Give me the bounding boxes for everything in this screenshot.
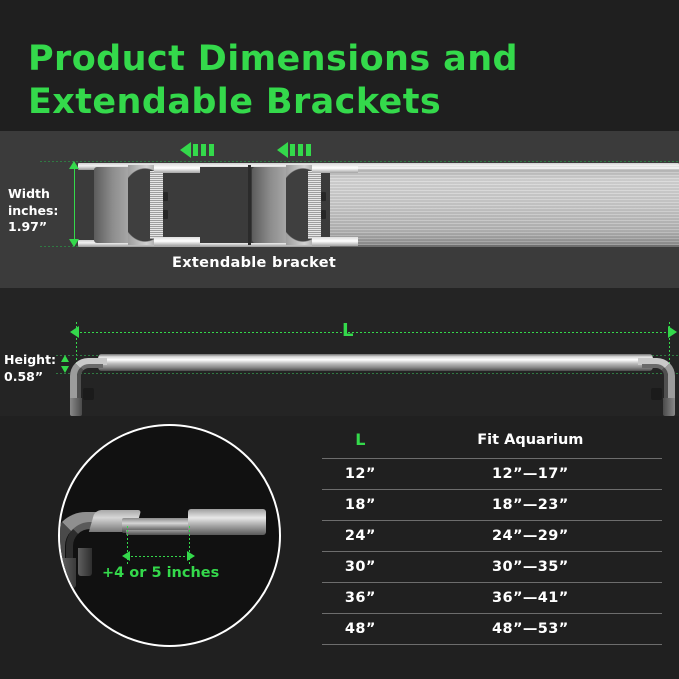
cell-fit: 30”—35” (399, 552, 662, 583)
product-top-view-illustration (78, 163, 679, 247)
cell-length: 30” (322, 552, 399, 583)
table-header-row: L Fit Aquarium (322, 424, 662, 459)
page-title-line-1: Product Dimensions and (28, 38, 648, 81)
length-arrow-right-icon (668, 326, 677, 338)
table-row: 18” 18”—23” (322, 490, 662, 521)
table-row: 24” 24”—29” (322, 521, 662, 552)
bracket-clip (321, 210, 326, 219)
bracket-arm-bottom (154, 237, 200, 246)
leg-pad (83, 388, 94, 400)
cell-length: 48” (322, 614, 399, 645)
cell-length: 18” (322, 490, 399, 521)
extension-range-label: +4 or 5 inches (102, 565, 219, 581)
magnified-arrow-left-icon (122, 551, 130, 561)
width-arrow-up-icon (69, 161, 79, 169)
bracket-arm-top (154, 164, 200, 173)
cell-fit: 36”—41” (399, 583, 662, 614)
bracket-ridge (150, 171, 163, 239)
arrow-head-icon (277, 142, 288, 158)
size-compatibility-table: L Fit Aquarium 12” 12”—17” 18” 18”—23” 2… (322, 424, 662, 645)
arrow-motion-bar (290, 144, 295, 156)
magnified-leg-foot (58, 558, 76, 588)
length-dimension-line (76, 332, 670, 333)
width-label-line-3: 1.97” (8, 219, 47, 234)
cell-length: 36” (322, 583, 399, 614)
arrow-motion-bar (193, 144, 198, 156)
table-header-fit-aquarium: Fit Aquarium (399, 424, 662, 459)
bracket-ridge (308, 171, 321, 239)
bracket-clip (321, 192, 326, 201)
leg-pad (651, 388, 662, 400)
leg-foot (663, 398, 675, 416)
height-dimension-label: Height: 0.58” (4, 352, 64, 385)
height-label-line-2: 0.58” (4, 369, 43, 384)
table-header-length: L (322, 424, 399, 459)
product-side-view-illustration (70, 352, 675, 414)
height-label-line-1: Height: (4, 352, 56, 367)
magnified-extension-sleeve (188, 509, 266, 535)
title-section: Product Dimensions and Extendable Bracke… (0, 0, 679, 131)
extend-direction-arrow-icon-1 (180, 142, 222, 158)
product-dimensions-infographic: Product Dimensions and Extendable Bracke… (0, 0, 679, 679)
arrow-motion-bar (201, 144, 206, 156)
leg-foot (70, 398, 82, 416)
extendable-bracket-caption: Extendable bracket (172, 255, 336, 271)
table-row: 30” 30”—35” (322, 552, 662, 583)
bracket-seam (248, 165, 251, 245)
length-dimension-label: L (342, 320, 353, 341)
magnified-arrow-right-icon (187, 551, 195, 561)
width-dimension-label: Width inches: 1.97” (8, 186, 66, 236)
table-row: 48” 48”—53” (322, 614, 662, 645)
side-view-bar (98, 354, 653, 371)
bracket-clip (163, 210, 168, 219)
magnified-dimension-line (127, 556, 190, 557)
arrow-motion-bar (298, 144, 303, 156)
table-body: 12” 12”—17” 18” 18”—23” 24” 24”—29” 30” … (322, 459, 662, 645)
width-label-line-2: inches: (8, 203, 58, 218)
cell-length: 12” (322, 459, 399, 490)
extend-direction-arrow-icon-2 (277, 142, 319, 158)
arrow-motion-bar (306, 144, 311, 156)
table-row: 12” 12”—17” (322, 459, 662, 490)
arrow-motion-bar (209, 144, 214, 156)
light-bar-body (330, 167, 679, 247)
extendable-bracket-1 (94, 165, 198, 245)
page-title: Product Dimensions and Extendable Bracke… (28, 38, 648, 123)
cell-length: 24” (322, 521, 399, 552)
cell-fit: 18”—23” (399, 490, 662, 521)
width-dimension-line (74, 163, 75, 246)
width-arrow-down-icon (69, 239, 79, 247)
cell-fit: 24”—29” (399, 521, 662, 552)
extension-detail-magnifier: +4 or 5 inches (58, 424, 281, 647)
cell-fit: 12”—17” (399, 459, 662, 490)
page-title-line-2: Extendable Brackets (28, 81, 648, 124)
bracket-arm-bottom (312, 237, 358, 246)
magnified-leg-foot-inner (78, 548, 92, 576)
side-view-leg-right (641, 358, 675, 414)
table-row: 36” 36”—41” (322, 583, 662, 614)
arrow-head-icon (180, 142, 191, 158)
cell-fit: 48”—53” (399, 614, 662, 645)
bracket-clip (163, 192, 168, 201)
extendable-bracket-2 (252, 165, 356, 245)
bracket-arm-top (312, 164, 358, 173)
length-arrow-left-icon (70, 326, 79, 338)
width-label-line-1: Width (8, 186, 50, 201)
width-guide-line-top (40, 161, 679, 162)
side-view-leg-left (70, 358, 104, 414)
